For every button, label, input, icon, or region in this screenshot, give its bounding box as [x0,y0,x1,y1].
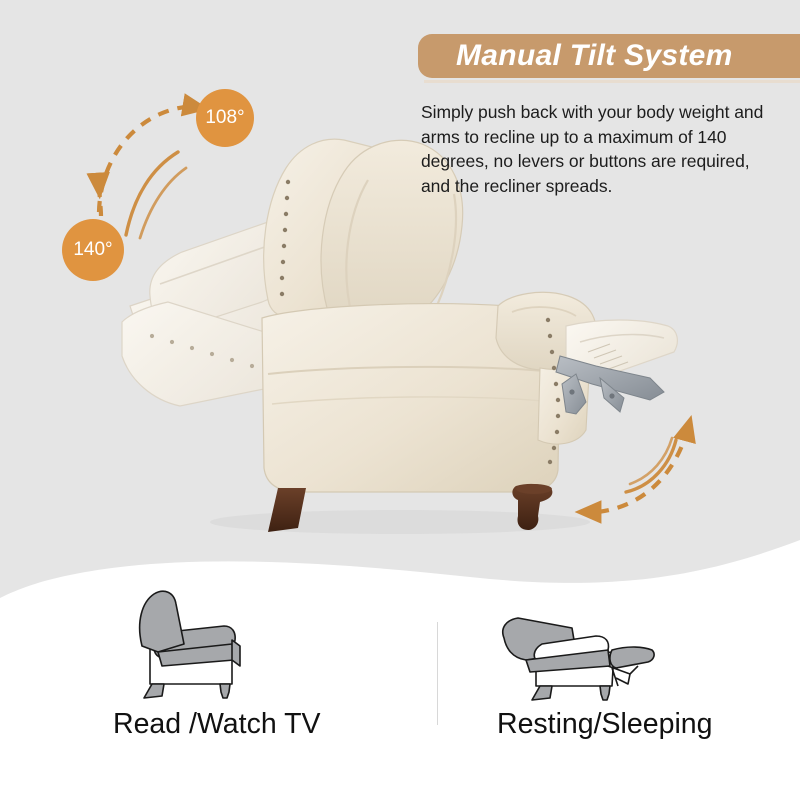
angle-badge-upright-label: 108° [205,107,244,129]
page-title: Manual Tilt System [456,37,800,75]
angle-badge-upright: 108° [196,89,254,147]
upright-recliner-icon [128,582,348,702]
product-photo [0,0,800,620]
title-banner-underline [424,80,800,83]
mode-label-resting-sleeping: Resting/Sleeping [497,707,712,741]
bottom-divider [437,622,438,725]
reclined-recliner-icon [500,582,730,702]
mode-label-read-watch-tv: Read /Watch TV [113,707,321,741]
angle-badge-reclined: 140° [62,219,124,281]
infographic-page: 108° 140° Manual Tilt System Simply push… [0,0,800,800]
angle-badge-reclined-label: 140° [73,239,112,261]
description-text: Simply push back with your body weight a… [421,100,781,198]
